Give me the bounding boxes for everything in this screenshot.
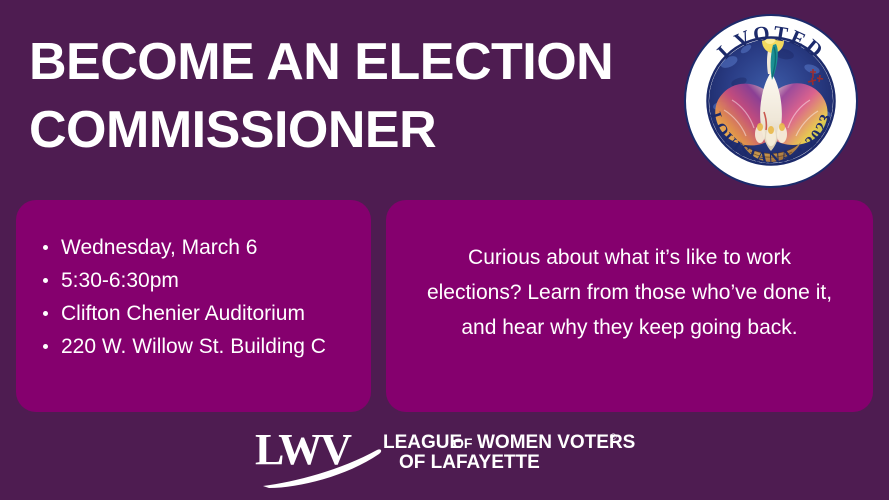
list-item: Clifton Chenier Auditorium xyxy=(42,297,357,330)
lwv-logo: LWV LEAGUE OF WOMEN VOTERS ® OF LAFAYETT… xyxy=(255,424,635,488)
event-details-card: Wednesday, March 6 5:30-6:30pm Clifton C… xyxy=(16,200,371,412)
lwv-league-text: LEAGUE xyxy=(383,432,462,453)
lwv-monogram: LWV xyxy=(255,425,352,474)
headline-line-2: COMMISSIONER xyxy=(29,96,669,164)
lwv-registered-mark: ® xyxy=(610,432,617,442)
list-item: 5:30-6:30pm xyxy=(42,264,357,297)
page-title: BECOME AN ELECTION COMMISSIONER xyxy=(29,28,669,164)
list-item: Wednesday, March 6 xyxy=(42,231,357,264)
lwv-wordmark-line-1: LEAGUE OF WOMEN VOTERS ® xyxy=(383,432,635,453)
i-voted-badge-icon: I VOTED LOUISIANA • 2023 xyxy=(684,14,858,188)
headline-line-1: BECOME AN ELECTION xyxy=(29,28,669,96)
event-blurb-text: Curious about what it’s like to work ele… xyxy=(418,240,841,345)
flyer-slide: BECOME AN ELECTION COMMISSIONER xyxy=(0,0,889,500)
lwv-chapter-text: OF LAFAYETTE xyxy=(399,452,540,473)
event-blurb-card: Curious about what it’s like to work ele… xyxy=(386,200,873,412)
list-item: 220 W. Willow St. Building C xyxy=(42,330,357,363)
lwv-of-text: OF xyxy=(453,435,473,451)
event-details-list: Wednesday, March 6 5:30-6:30pm Clifton C… xyxy=(42,231,357,363)
